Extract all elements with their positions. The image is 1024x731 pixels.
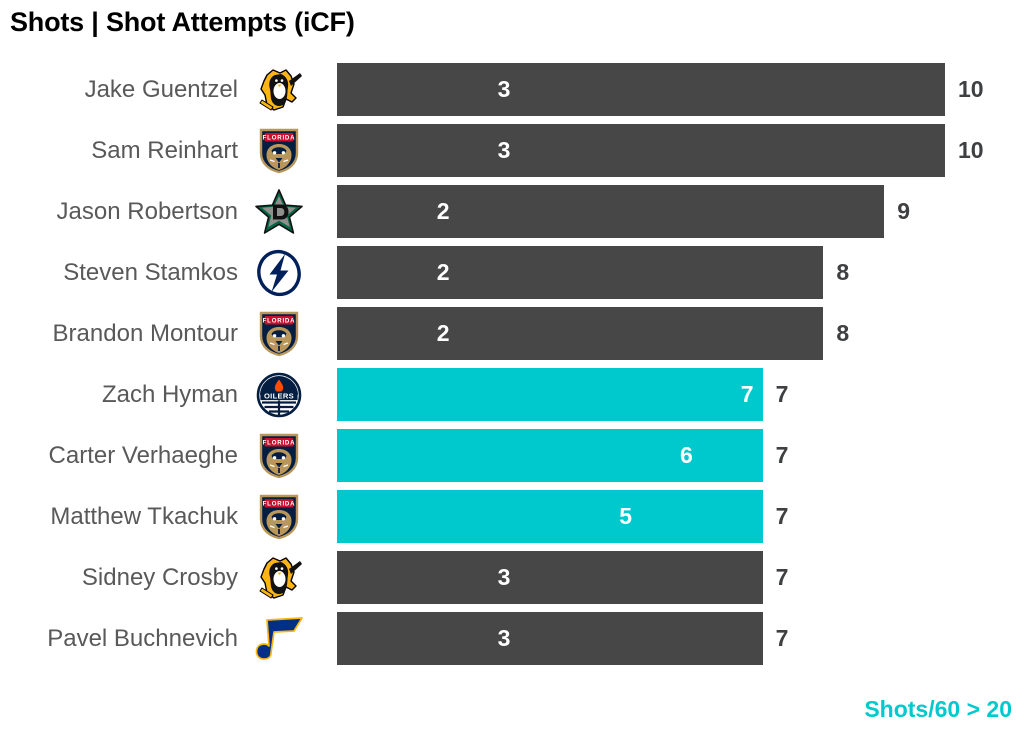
bar-fill[interactable] xyxy=(337,551,763,604)
player-name-label: Sidney Crosby xyxy=(0,547,238,608)
legend-note: Shots/60 > 20 xyxy=(864,696,1012,723)
shot-attempts-value-label: 10 xyxy=(945,63,984,116)
svg-text:FLORIDA: FLORIDA xyxy=(263,135,296,142)
shots-value-label: 5 xyxy=(619,490,641,543)
team-logo-dallas-stars-icon xyxy=(250,181,308,242)
team-logo-florida-panthers-icon: FLORIDA xyxy=(250,120,308,181)
team-logo-st-louis-blues-icon xyxy=(250,608,308,669)
player-name-label: Zach Hyman xyxy=(0,364,238,425)
shot-attempts-value-label: 7 xyxy=(763,612,789,665)
bar-fill[interactable] xyxy=(337,185,884,238)
player-name-label: Jason Robertson xyxy=(0,181,238,242)
chart-row: Jason Robertson 29 xyxy=(0,181,1024,242)
page-title: Shots | Shot Attempts (iCF) xyxy=(10,7,355,38)
bar-track: 310 xyxy=(337,63,957,116)
bar-track: 29 xyxy=(337,185,957,238)
bar-track: 28 xyxy=(337,307,957,360)
team-logo-pittsburgh-penguins-icon xyxy=(250,59,308,120)
bar-rows-list: Jake Guentzel 310Sam Reinhart FLORIDA xyxy=(0,59,1024,669)
bar-track: 310 xyxy=(337,124,957,177)
chart-row: Sam Reinhart FLORIDA 310 xyxy=(0,120,1024,181)
bar-fill[interactable] xyxy=(337,490,763,543)
player-name-label: Pavel Buchnevich xyxy=(0,608,238,669)
player-name-label: Brandon Montour xyxy=(0,303,238,364)
shots-value-label: 3 xyxy=(498,612,520,665)
shots-value-label: 3 xyxy=(498,551,520,604)
chart-row: Carter Verhaeghe FLORIDA 67 xyxy=(0,425,1024,486)
chart-row: Brandon Montour FLORIDA 28 xyxy=(0,303,1024,364)
bar-track: 37 xyxy=(337,551,957,604)
chart-container: Shots | Shot Attempts (iCF) Jake Guentze… xyxy=(0,0,1024,731)
chart-row: Matthew Tkachuk FLORIDA 57 xyxy=(0,486,1024,547)
chart-row: Sidney Crosby 37 xyxy=(0,547,1024,608)
bar-fill[interactable] xyxy=(337,124,945,177)
bar-fill[interactable] xyxy=(337,307,823,360)
bar-fill[interactable] xyxy=(337,368,763,421)
player-name-label: Steven Stamkos xyxy=(0,242,238,303)
svg-text:OILERS: OILERS xyxy=(264,391,294,400)
team-logo-florida-panthers-icon: FLORIDA xyxy=(250,486,308,547)
player-name-label: Carter Verhaeghe xyxy=(0,425,238,486)
shot-attempts-value-label: 7 xyxy=(763,429,789,482)
team-logo-tampa-bay-lightning-icon xyxy=(250,242,308,303)
team-logo-florida-panthers-icon: FLORIDA xyxy=(250,425,308,486)
player-name-label: Jake Guentzel xyxy=(0,59,238,120)
bar-fill[interactable] xyxy=(337,612,763,665)
player-name-label: Matthew Tkachuk xyxy=(0,486,238,547)
shots-value-label: 2 xyxy=(437,307,459,360)
chart-row: Steven Stamkos 28 xyxy=(0,242,1024,303)
shot-attempts-value-label: 7 xyxy=(763,368,789,421)
bar-track: 57 xyxy=(337,490,957,543)
chart-row: Jake Guentzel 310 xyxy=(0,59,1024,120)
shot-attempts-value-label: 7 xyxy=(763,490,789,543)
svg-text:FLORIDA: FLORIDA xyxy=(263,440,296,447)
team-logo-florida-panthers-icon: FLORIDA xyxy=(250,303,308,364)
shots-value-label: 6 xyxy=(680,429,702,482)
shots-value-label: 2 xyxy=(437,246,459,299)
svg-text:FLORIDA: FLORIDA xyxy=(263,501,296,508)
shots-value-label: 3 xyxy=(498,63,520,116)
team-logo-pittsburgh-penguins-icon xyxy=(250,547,308,608)
shots-value-label: 2 xyxy=(437,185,459,238)
chart-row: Pavel Buchnevich 37 xyxy=(0,608,1024,669)
bar-track: 37 xyxy=(337,612,957,665)
bar-fill[interactable] xyxy=(337,63,945,116)
bar-track: 28 xyxy=(337,246,957,299)
shot-attempts-value-label: 9 xyxy=(884,185,910,238)
chart-row: Zach Hyman OILERS 77 xyxy=(0,364,1024,425)
shot-attempts-value-label: 8 xyxy=(823,246,849,299)
shot-attempts-value-label: 8 xyxy=(823,307,849,360)
bar-track: 67 xyxy=(337,429,957,482)
bar-track: 77 xyxy=(337,368,957,421)
player-name-label: Sam Reinhart xyxy=(0,120,238,181)
bar-fill[interactable] xyxy=(337,246,823,299)
shot-attempts-value-label: 7 xyxy=(763,551,789,604)
shot-attempts-value-label: 10 xyxy=(945,124,984,177)
team-logo-edmonton-oilers-icon: OILERS xyxy=(250,364,308,425)
shots-value-label: 7 xyxy=(741,368,763,421)
svg-text:FLORIDA: FLORIDA xyxy=(263,318,296,325)
shots-value-label: 3 xyxy=(498,124,520,177)
